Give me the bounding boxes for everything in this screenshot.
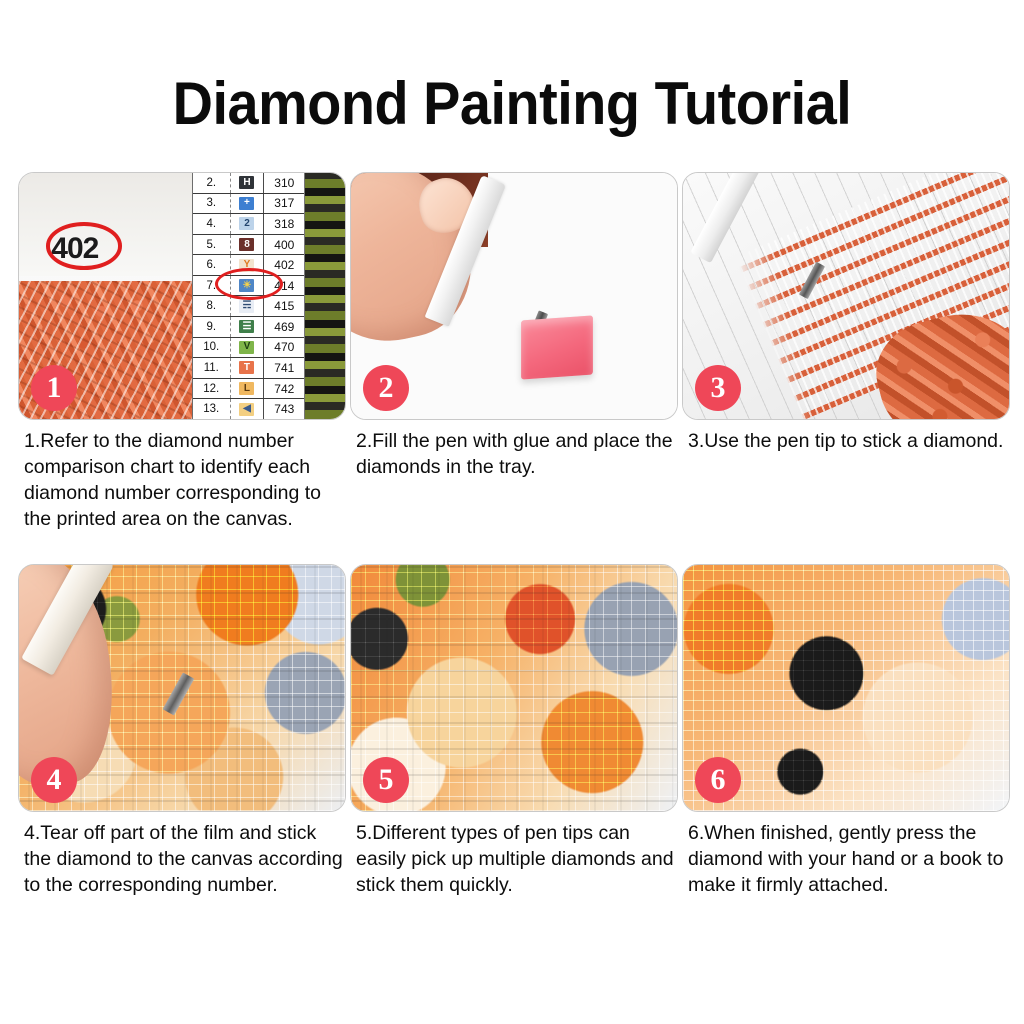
step-badge-4: 4 (31, 757, 77, 803)
step-card-2: 2 2.Fill the pen with glue and place the… (350, 172, 682, 532)
row-index: 9. (193, 317, 231, 337)
table-row: 13. ◀ 743 (193, 399, 305, 419)
symbol-icon: + (239, 197, 254, 210)
symbol-icon: 8 (239, 238, 254, 251)
row-symbol-cell: ☰ (231, 317, 264, 337)
step-image-5: 5 (350, 564, 678, 812)
row-symbol-cell: + (231, 194, 264, 214)
table-row: 2. H 310 (193, 173, 305, 194)
table-row: 11. T 741 (193, 358, 305, 379)
symbol-icon: T (239, 361, 254, 374)
row-number: 310 (264, 176, 304, 190)
row-symbol-cell: T (231, 358, 264, 378)
step-caption-2: 2.Fill the pen with glue and place the d… (350, 420, 682, 480)
pink-glue-square (521, 316, 593, 380)
row-index: 10. (193, 338, 231, 358)
table-row: 5. 8 400 (193, 235, 305, 256)
canvas-edge-strip (304, 173, 345, 419)
step-caption-3: 3.Use the pen tip to stick a diamond. (682, 420, 1014, 454)
row-index: 13. (193, 399, 231, 419)
table-row: 12. L 742 (193, 379, 305, 400)
step-image-6: 6 (682, 564, 1010, 812)
step-caption-1: 1.Refer to the diamond number comparison… (18, 420, 350, 532)
step-badge-2: 2 (363, 365, 409, 411)
row-number: 415 (264, 299, 304, 313)
symbol-icon: ☴ (239, 300, 254, 313)
step-image-2: 2 (350, 172, 678, 420)
table-row: 3. + 317 (193, 194, 305, 215)
step-card-1: 402 2. H 310 3. + 317 (18, 172, 350, 532)
row-symbol-cell: ◀ (231, 399, 264, 419)
chart-number-highlight-ellipse (215, 268, 283, 300)
row-number: 400 (264, 238, 304, 252)
step-badge-5: 5 (363, 757, 409, 803)
step-card-4: 4 4.Tear off part of the film and stick … (18, 564, 350, 898)
table-row: 4. 2 318 (193, 214, 305, 235)
step-caption-4: 4.Tear off part of the film and stick th… (18, 812, 350, 898)
step-card-6: 6 6.When finished, gently press the diam… (682, 564, 1014, 898)
step-caption-6: 6.When finished, gently press the diamon… (682, 812, 1014, 898)
step-caption-5: 5.Different types of pen tips can easily… (350, 812, 682, 898)
step-card-3: 3 3.Use the pen tip to stick a diamond. (682, 172, 1014, 532)
row-symbol-cell: 2 (231, 214, 264, 234)
symbol-icon: H (239, 176, 254, 189)
step-image-4: 4 (18, 564, 346, 812)
row-symbol-cell: L (231, 379, 264, 399)
row-number: 318 (264, 217, 304, 231)
step-image-3: 3 (682, 172, 1010, 420)
symbol-icon: V (239, 341, 254, 354)
row-symbol-cell: 8 (231, 235, 264, 255)
row-index: 5. (193, 235, 231, 255)
row-index: 4. (193, 214, 231, 234)
table-row: 9. ☰ 469 (193, 317, 305, 338)
row-index: 2. (193, 173, 231, 193)
step-badge-6: 6 (695, 757, 741, 803)
step-badge-1: 1 (31, 365, 77, 411)
symbol-icon: ☰ (239, 320, 254, 333)
symbol-icon: L (239, 382, 254, 395)
symbol-icon: ◀ (239, 403, 254, 416)
steps-grid: 402 2. H 310 3. + 317 (18, 172, 1010, 898)
step-badge-3: 3 (695, 365, 741, 411)
row-index: 3. (193, 194, 231, 214)
step-image-1: 402 2. H 310 3. + 317 (18, 172, 346, 420)
row-number: 742 (264, 382, 304, 396)
symbol-icon: 2 (239, 217, 254, 230)
row-index: 12. (193, 379, 231, 399)
table-row: 10. V 470 (193, 338, 305, 359)
tutorial-page: Diamond Painting Tutorial 402 2. H 310 (0, 0, 1024, 1024)
row-symbol-cell: H (231, 173, 264, 193)
step-card-5: 5 5.Different types of pen tips can easi… (350, 564, 682, 898)
row-index: 8. (193, 296, 231, 316)
row-number: 741 (264, 361, 304, 375)
row-number: 402 (264, 258, 304, 272)
row-number: 469 (264, 320, 304, 334)
row-index: 11. (193, 358, 231, 378)
page-title: Diamond Painting Tutorial (36, 0, 988, 135)
bag-number-highlight-ellipse (46, 222, 122, 269)
row-number: 743 (264, 402, 304, 416)
row-symbol-cell: V (231, 338, 264, 358)
row-number: 470 (264, 340, 304, 354)
row-number: 317 (264, 196, 304, 210)
